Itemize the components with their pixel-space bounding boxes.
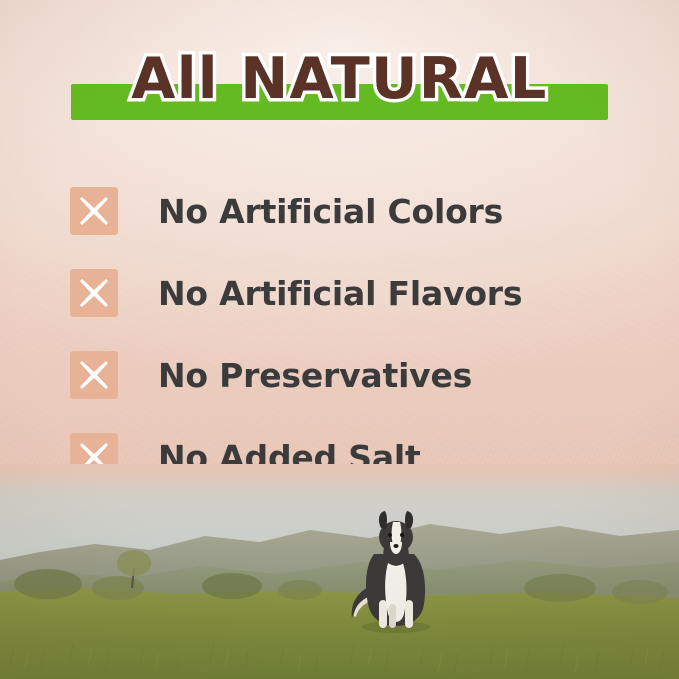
list-item: No Artificial Flavors — [70, 252, 615, 334]
list-item-label: No Preservatives — [158, 356, 472, 395]
list-item: No Artificial Colors — [70, 170, 615, 252]
list-item-label: No Artificial Colors — [158, 192, 503, 231]
landscape-photo-artwork — [0, 464, 679, 679]
infographic-canvas: All NATURAL All NATURAL No Artificial Co… — [0, 0, 679, 679]
page-title: All NATURAL — [0, 50, 679, 110]
x-mark-icon-glyph — [70, 269, 118, 317]
x-mark-icon-glyph — [70, 351, 118, 399]
claims-list: No Artificial Colors No Artificial Flavo… — [70, 170, 615, 498]
x-mark-icon — [70, 351, 118, 399]
list-item-label: No Artificial Flavors — [158, 274, 522, 313]
landscape-photo — [0, 464, 679, 679]
x-mark-icon — [70, 187, 118, 235]
x-mark-icon-glyph — [70, 187, 118, 235]
x-mark-icon — [70, 269, 118, 317]
list-item: No Preservatives — [70, 334, 615, 416]
